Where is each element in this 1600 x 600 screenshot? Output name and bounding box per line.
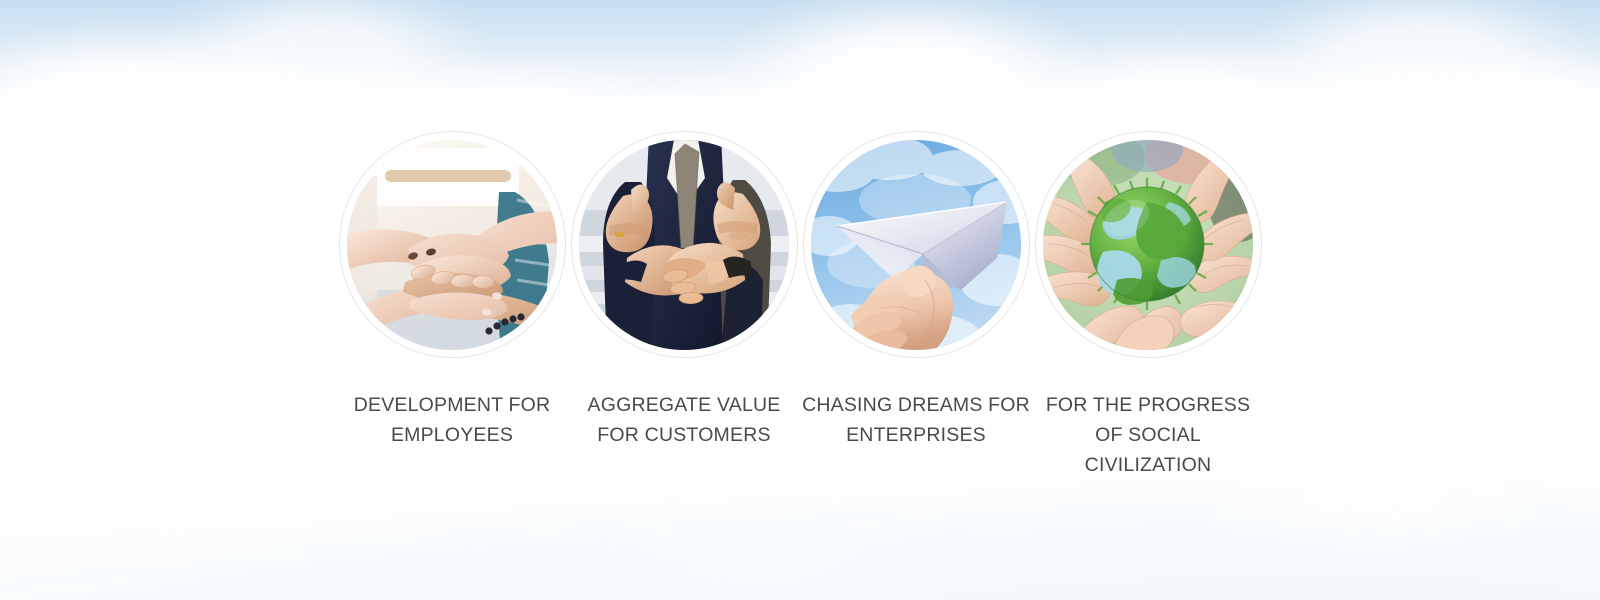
value-item-for-the-progress-of-social-civilization[interactable]: FOR THE PROGRESS OF SOCIAL CIVILIZATION — [1035, 131, 1262, 480]
value-label: FOR THE PROGRESS OF SOCIAL CIVILIZATION — [1031, 390, 1266, 480]
value-label: AGGREGATE VALUE FOR CUSTOMERS — [567, 390, 802, 450]
hands-around-green-globe-photo — [1043, 140, 1253, 350]
business-handshake-thumbs-up-photo — [579, 140, 789, 350]
stacked-hands-teamwork-photo — [347, 140, 557, 350]
circle-frame — [571, 131, 798, 358]
value-item-aggregate-value-for-customers[interactable]: AGGREGATE VALUE FOR CUSTOMERS — [571, 131, 798, 450]
values-row: DEVELOPMENT FOR EMPLOYEES — [0, 131, 1600, 480]
value-label: DEVELOPMENT FOR EMPLOYEES — [335, 390, 570, 450]
value-label: CHASING DREAMS FOR ENTERPRISES — [799, 390, 1034, 450]
circle-frame — [339, 131, 566, 358]
circle-frame — [1035, 131, 1262, 358]
value-item-chasing-dreams-for-enterprises[interactable]: CHASING DREAMS FOR ENTERPRISES — [803, 131, 1030, 450]
value-item-development-for-employees[interactable]: DEVELOPMENT FOR EMPLOYEES — [339, 131, 566, 450]
values-banner: DEVELOPMENT FOR EMPLOYEES — [0, 0, 1600, 600]
circle-frame — [803, 131, 1030, 358]
hand-holding-paper-plane-photo — [811, 140, 1021, 350]
